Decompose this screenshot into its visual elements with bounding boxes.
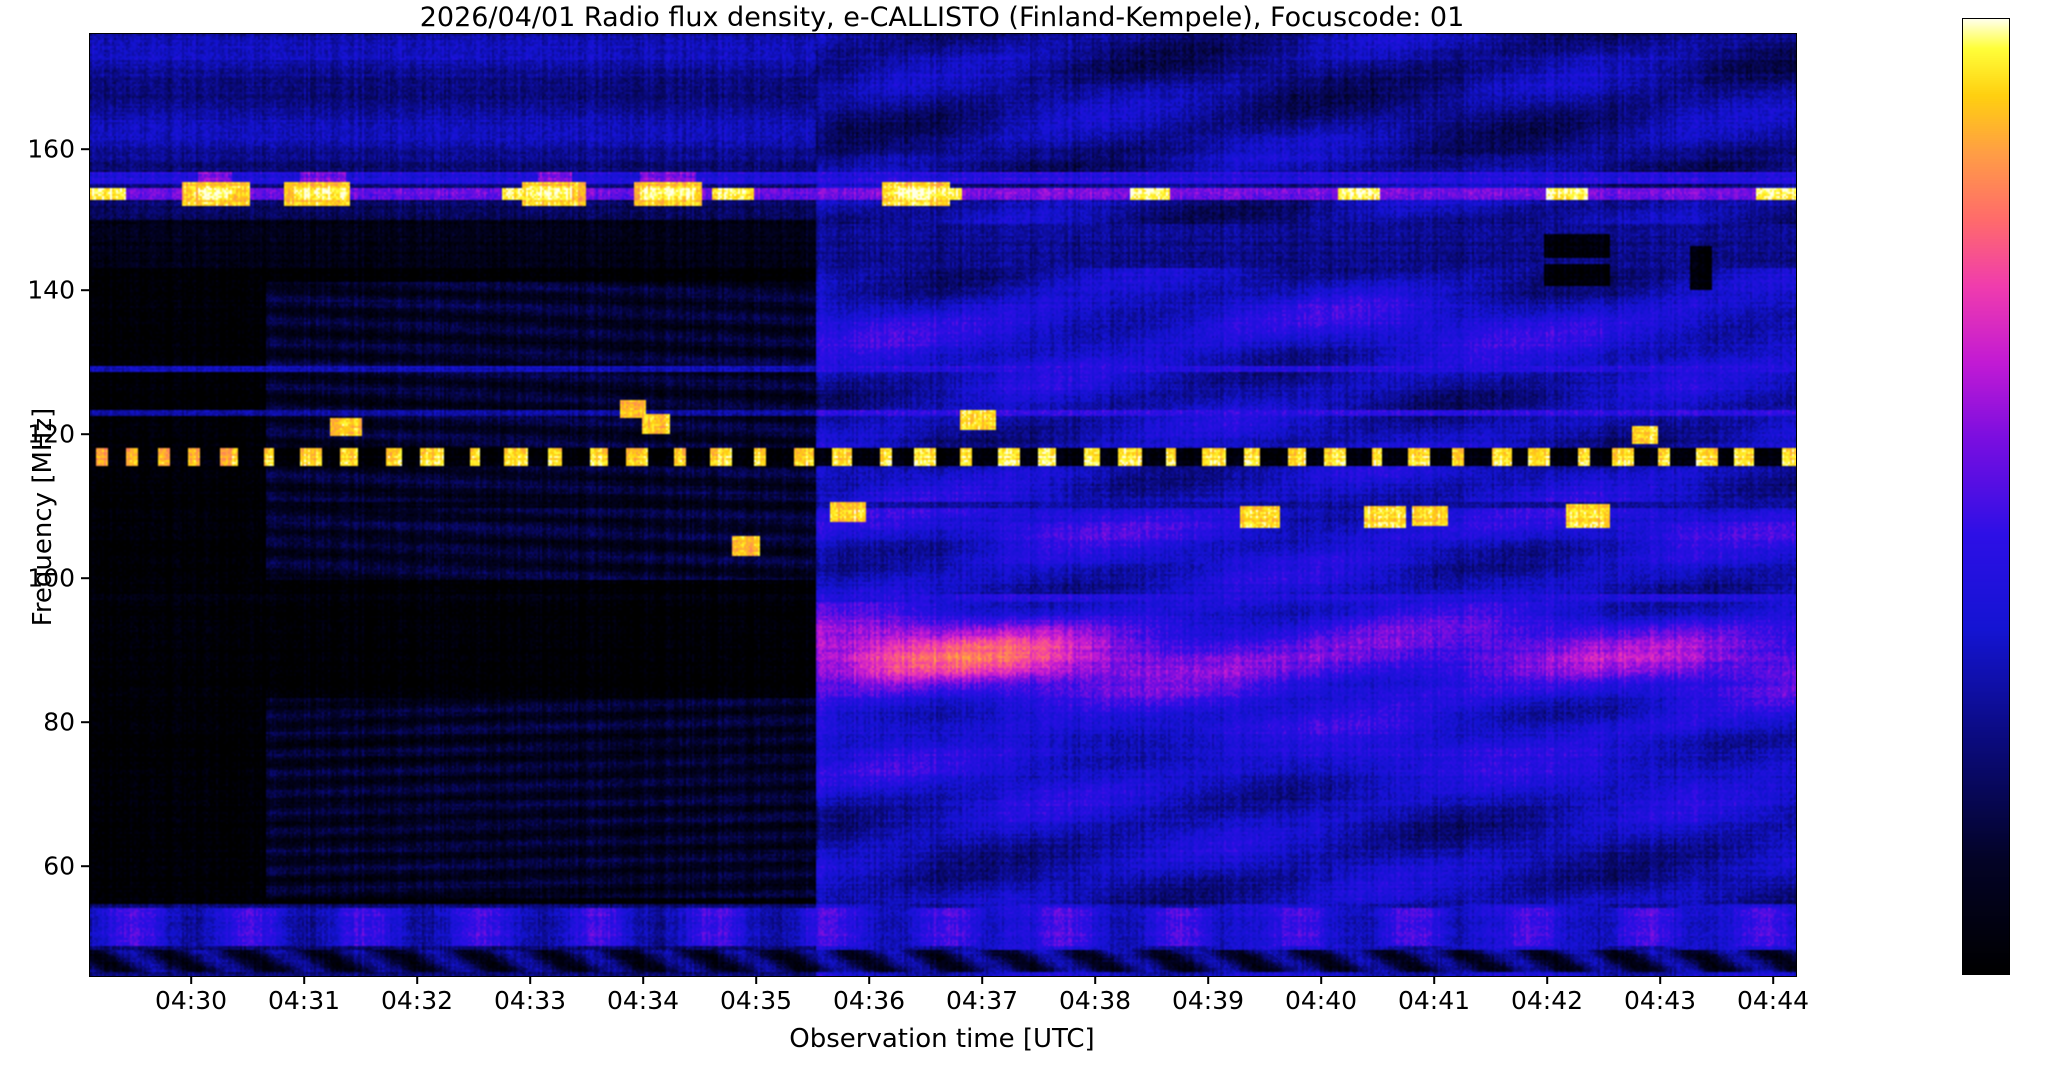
x-tick-mark [1772,976,1774,984]
x-tick-mark [1094,976,1096,984]
colorbar-gradient [1962,18,2010,975]
x-tick-mark [190,976,192,984]
spectrogram-image [90,34,1796,976]
y-tick-mark [81,865,89,867]
x-tick-label: 04:36 [833,988,905,1013]
x-tick-label: 04:40 [1285,988,1357,1013]
x-tick-label: 04:41 [1398,988,1470,1013]
x-tick-mark [529,976,531,984]
x-tick-mark [1546,976,1548,984]
y-tick-label: 80 [43,710,75,735]
x-tick-label: 04:30 [155,988,227,1013]
x-tick-label: 04:44 [1737,988,1809,1013]
x-tick-mark [755,976,757,984]
y-tick-mark [81,289,89,291]
colorbar[interactable]: 14121086420−2 [1962,18,2010,975]
x-tick-mark [416,976,418,984]
x-tick-mark [642,976,644,984]
x-tick-mark [303,976,305,984]
x-tick-mark [981,976,983,984]
x-tick-label: 04:42 [1511,988,1583,1013]
x-tick-label: 04:38 [1059,988,1131,1013]
x-tick-label: 04:43 [1624,988,1696,1013]
x-tick-label: 04:31 [268,988,340,1013]
x-tick-label: 04:35 [720,988,792,1013]
y-tick-mark [81,148,89,150]
x-tick-label: 04:39 [1172,988,1244,1013]
x-tick-mark [1320,976,1322,984]
y-tick-label: 140 [27,278,75,303]
y-tick-mark [81,721,89,723]
x-tick-label: 04:37 [946,988,1018,1013]
spectrogram-axes[interactable] [89,33,1797,977]
x-axis-title: Observation time [UTC] [89,1026,1795,1052]
y-tick-label: 60 [43,854,75,879]
x-tick-mark [868,976,870,984]
x-tick-mark [1207,976,1209,984]
x-tick-label: 04:32 [381,988,453,1013]
x-tick-label: 04:33 [494,988,566,1013]
x-tick-mark [1659,976,1661,984]
x-tick-mark [1433,976,1435,984]
y-tick-mark [81,577,89,579]
y-tick-mark [81,433,89,435]
x-tick-label: 04:34 [607,988,679,1013]
y-tick-label: 160 [27,137,75,162]
y-axis-title: Frequency [MHz] [30,352,56,682]
page-title: 2026/04/01 Radio flux density, e-CALLIST… [89,4,1795,32]
